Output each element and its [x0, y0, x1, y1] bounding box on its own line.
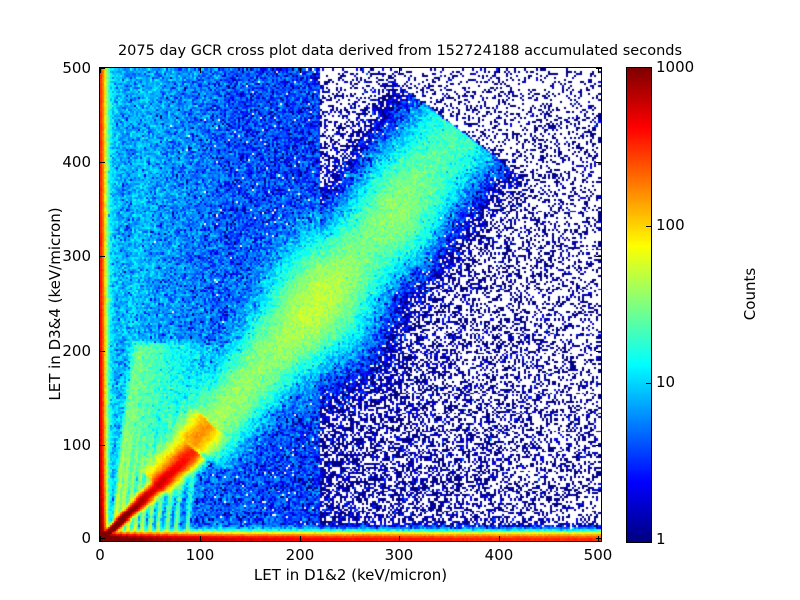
- x-tick-label-300: 300: [364, 546, 434, 564]
- x-tick-top-100: [200, 68, 201, 73]
- y-tick-right-0: [596, 538, 601, 539]
- x-tick-top-200: [300, 68, 301, 73]
- colorbar: [626, 67, 652, 543]
- x-tick-label-400: 400: [464, 546, 534, 564]
- y-axis-label: LET in D3&4 (keV/micron): [46, 104, 64, 504]
- x-tick-label-100: 100: [165, 546, 235, 564]
- x-tick-label-0: 0: [65, 546, 135, 564]
- x-tick-200: [300, 536, 301, 541]
- figure-canvas: 2075 day GCR cross plot data derived fro…: [0, 0, 800, 600]
- heatmap-canvas: [100, 68, 601, 541]
- x-tick-top-300: [399, 68, 400, 73]
- y-tick-500: [100, 68, 105, 69]
- x-tick-label-200: 200: [265, 546, 335, 564]
- x-tick-400: [499, 536, 500, 541]
- y-tick-400: [100, 162, 105, 163]
- x-tick-300: [399, 536, 400, 541]
- colorbar-tick-10: [646, 383, 651, 384]
- colorbar-tick-100: [646, 226, 651, 227]
- plot-axes: [99, 67, 602, 542]
- y-tick-right-300: [596, 256, 601, 257]
- x-axis-label: LET in D1&2 (keV/micron): [99, 566, 602, 584]
- y-tick-right-200: [596, 351, 601, 352]
- y-tick-100: [100, 445, 105, 446]
- colorbar-tick-label-1: 1: [656, 530, 666, 548]
- y-tick-0: [100, 538, 105, 539]
- y-tick-label-0: 0: [29, 529, 91, 547]
- y-tick-right-500: [596, 68, 601, 69]
- x-tick-top-400: [499, 68, 500, 73]
- colorbar-tick-label-1000: 1000: [656, 58, 694, 76]
- y-tick-300: [100, 256, 105, 257]
- y-tick-right-400: [596, 162, 601, 163]
- y-tick-200: [100, 351, 105, 352]
- colorbar-tick-label-100: 100: [656, 216, 685, 234]
- colorbar-label: Counts: [741, 144, 759, 444]
- y-tick-right-100: [596, 445, 601, 446]
- colorbar-gradient: [627, 68, 651, 542]
- x-tick-100: [200, 536, 201, 541]
- y-tick-label-500: 500: [29, 59, 91, 77]
- colorbar-tick-label-10: 10: [656, 373, 675, 391]
- x-tick-label-500: 500: [563, 546, 633, 564]
